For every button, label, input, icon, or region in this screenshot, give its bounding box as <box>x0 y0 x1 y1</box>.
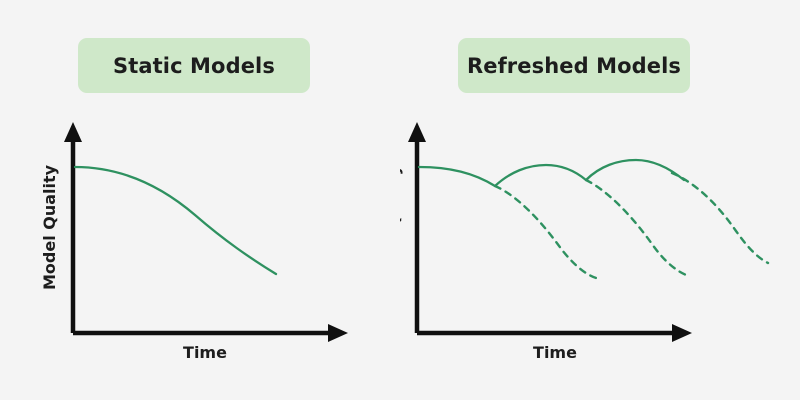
y-axis-label-static: Model Quality <box>40 164 59 290</box>
x-axis-arrowhead <box>672 324 692 342</box>
y-axis-arrowhead <box>64 122 82 142</box>
static-decay-curve <box>75 167 276 274</box>
decay-branch-3 <box>672 173 768 263</box>
refreshed-models-plot: Model Quality Time <box>400 0 800 400</box>
decay-branch-2 <box>586 180 686 275</box>
x-axis-label-refreshed: Time <box>533 343 577 362</box>
panel-refreshed-models: Refreshed Models Model Quality Time <box>400 0 800 400</box>
diagram-canvas: Static Models Model Quality Time Refresh… <box>0 0 800 400</box>
static-models-plot: Model Quality Time <box>0 0 400 400</box>
y-axis-label-refreshed: Model Quality <box>400 164 403 290</box>
refreshed-quality-curve <box>419 160 684 186</box>
panel-static-models: Static Models Model Quality Time <box>0 0 400 400</box>
x-axis-label-static: Time <box>183 343 227 362</box>
x-axis-arrowhead <box>328 324 348 342</box>
y-axis-arrowhead <box>408 122 426 142</box>
decay-branch-1 <box>495 186 596 278</box>
